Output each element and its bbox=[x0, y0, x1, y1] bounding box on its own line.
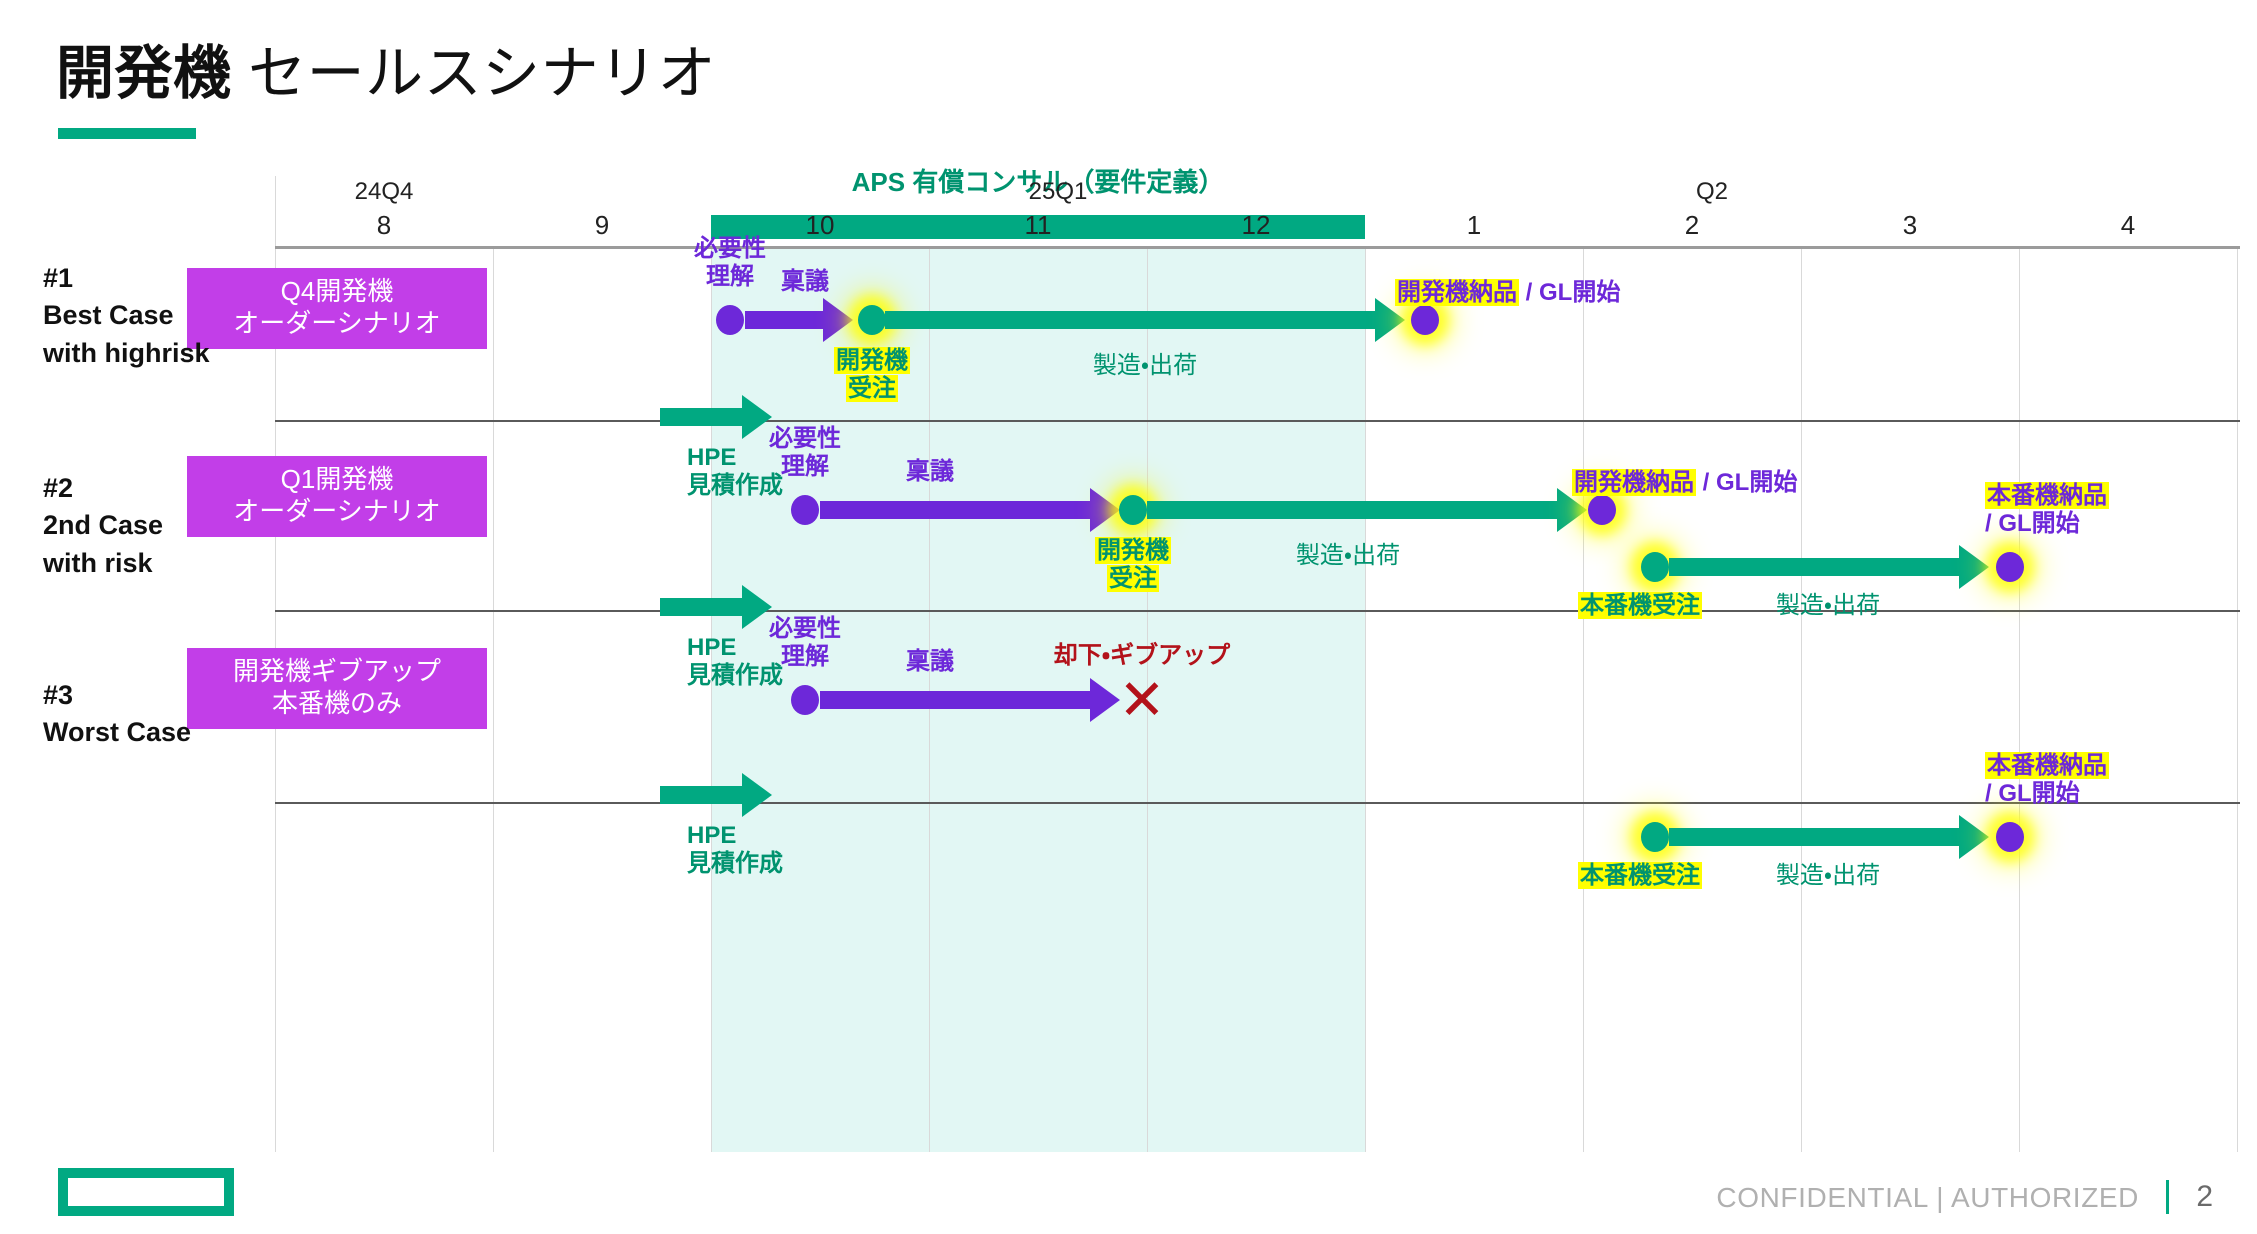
arrow-head bbox=[1959, 815, 1989, 859]
scenario-box-row2: Q1開発機 オーダーシナリオ bbox=[187, 456, 487, 537]
hpe-quote-arrow-row1 bbox=[660, 408, 772, 426]
quarter-label-q2: Q2 bbox=[1632, 178, 1792, 206]
scenario-box-row1: Q4開発機 オーダーシナリオ bbox=[187, 268, 487, 349]
order-label-row2-line1: 開発機 bbox=[1095, 537, 1171, 564]
manufacture-arrow-row1 bbox=[885, 311, 1405, 329]
delivery-label-row2: 開発機納品 / GL開始 bbox=[1572, 469, 1797, 497]
month-label-12: 12 bbox=[1176, 210, 1336, 241]
gridline-2 bbox=[711, 246, 712, 1152]
order-dot-row2 bbox=[1119, 495, 1147, 525]
prod-order-dot-row2 bbox=[1641, 552, 1669, 582]
order-dot-row1 bbox=[858, 305, 886, 335]
start-dot-row2 bbox=[791, 495, 819, 525]
need-label-row2: 必要性 理解 bbox=[769, 425, 841, 482]
reject-x-icon: ✕ bbox=[1119, 672, 1166, 728]
hpe-quote-arrow-row3 bbox=[660, 786, 772, 804]
prod-delivery-row2-hl: 本番機納品 bbox=[1985, 482, 2109, 509]
page-number: 2 bbox=[2196, 1180, 2213, 1214]
order-label-row1: 開発機 受注 bbox=[834, 347, 910, 404]
delivery-label-row2-hl: 開発機納品 bbox=[1572, 469, 1696, 496]
arrow-head bbox=[1959, 545, 1989, 589]
prod-manufacture-label-row3: 製造・出荷 bbox=[1776, 862, 1880, 890]
row-label-2: #2 2nd Case with risk bbox=[43, 470, 163, 582]
hpe-quote-label-row3-line2: 見積作成 bbox=[687, 850, 783, 878]
gridline-5 bbox=[1365, 246, 1366, 1152]
manufacture-label-row1: 製造・出荷 bbox=[1093, 352, 1197, 380]
arrow-head bbox=[742, 773, 772, 817]
month-label-9: 9 bbox=[522, 210, 682, 241]
arrow-head bbox=[1090, 678, 1120, 722]
prod-manufacture-label-row2: 製造・出荷 bbox=[1776, 592, 1880, 620]
arrow-head bbox=[742, 585, 772, 629]
arrow-shaft bbox=[820, 501, 1092, 519]
prod-delivery-label-row2: 本番機納品 / GL開始 bbox=[1985, 482, 2109, 539]
arrow-head bbox=[742, 395, 772, 439]
arrow-shaft bbox=[885, 311, 1377, 329]
row-divider-2 bbox=[275, 610, 2240, 612]
prod-delivery-row2-rest: / GL開始 bbox=[1985, 510, 2109, 538]
title-accent-rule bbox=[58, 128, 196, 139]
quarter-label-25q1: 25Q1 bbox=[978, 178, 1138, 206]
delivery-label-row2-rest: / GL開始 bbox=[1696, 469, 1797, 496]
prod-order-dot-row3 bbox=[1641, 822, 1669, 852]
delivery-label-row1: 開発機納品 / GL開始 bbox=[1395, 279, 1620, 307]
arrow-shaft bbox=[745, 311, 825, 329]
gridline-8 bbox=[2019, 246, 2020, 1152]
prod-delivery-row3-rest: / GL開始 bbox=[1985, 780, 2109, 808]
scenario-box-row3: 開発機ギブアップ 本番機のみ bbox=[187, 648, 487, 729]
timeline-chart: APS 有償コンサル（要件定義） 24Q4 25Q1 Q2 8 9 10 11 … bbox=[275, 172, 2240, 1152]
manufacture-label-row2: 製造・出荷 bbox=[1296, 542, 1400, 570]
gridline-6 bbox=[1583, 246, 1584, 1152]
need-label-row1: 必要性 理解 bbox=[694, 235, 766, 292]
order-label-row1-line1: 開発機 bbox=[834, 347, 910, 374]
scenario-box-row3-line1: 開発機ギブアップ bbox=[201, 656, 473, 688]
scenario-box-row2-line1: Q1開発機 bbox=[201, 464, 473, 496]
order-label-row2-line2: 受注 bbox=[1107, 565, 1159, 592]
delivery-dot-row2 bbox=[1588, 495, 1616, 525]
page-title-rest: セールスシナリオ bbox=[232, 41, 717, 106]
delivery-label-row1-rest: / GL開始 bbox=[1519, 279, 1620, 306]
footer-separator bbox=[2166, 1180, 2169, 1214]
quarter-label-24q4: 24Q4 bbox=[304, 178, 464, 206]
scenario-box-row1-line1: Q4開発機 bbox=[201, 276, 473, 308]
prod-manufacture-arrow-row2 bbox=[1669, 558, 1989, 576]
arrow-shaft bbox=[1669, 828, 1961, 846]
prod-delivery-dot-row2 bbox=[1996, 552, 2024, 582]
order-label-row1-line2: 受注 bbox=[846, 375, 898, 402]
prod-delivery-row3-hl: 本番機納品 bbox=[1985, 752, 2109, 779]
row-label-3-line2: Worst Case bbox=[43, 714, 191, 751]
arrow-shaft bbox=[1669, 558, 1961, 576]
row-label-2-line3: with risk bbox=[43, 545, 163, 582]
row-label-1: #1 Best Case with highrisk bbox=[43, 260, 210, 372]
prod-order-label-row2: 本番機受注 bbox=[1578, 592, 1702, 620]
prod-manufacture-arrow-row3 bbox=[1669, 828, 1989, 846]
gridline-9 bbox=[2237, 246, 2238, 1152]
prod-delivery-dot-row3 bbox=[1996, 822, 2024, 852]
arrow-head bbox=[823, 298, 853, 342]
approval-arrow-row3 bbox=[820, 691, 1120, 709]
page-title-bold: 開発機 bbox=[56, 41, 232, 106]
approval-arrow-row2 bbox=[820, 501, 1120, 519]
month-label-11: 11 bbox=[958, 210, 1118, 241]
scenario-box-row3-line2: 本番機のみ bbox=[201, 688, 473, 720]
row-divider-1 bbox=[275, 420, 2240, 422]
row-label-1-id: #1 bbox=[43, 260, 210, 297]
axis-rule bbox=[275, 246, 2240, 249]
hpe-logo bbox=[58, 1168, 234, 1216]
month-label-1: 1 bbox=[1394, 210, 1554, 241]
gridline-1 bbox=[493, 246, 494, 1152]
slide: 開発機 セールスシナリオ APS 有償コンサル（要件定義） 24Q4 25Q1 … bbox=[0, 0, 2257, 1234]
approval-arrow-row1 bbox=[745, 311, 853, 329]
approval-label-row1: 稟議 bbox=[781, 268, 829, 296]
arrow-shaft bbox=[660, 408, 744, 426]
reject-label-row3: 却下・ギブアップ bbox=[1054, 642, 1230, 670]
scenario-box-row2-line2: オーダーシナリオ bbox=[201, 496, 473, 528]
row-divider-3 bbox=[275, 802, 2240, 804]
delivery-dot-row1 bbox=[1411, 305, 1439, 335]
arrow-head bbox=[1090, 488, 1120, 532]
need-label-row3: 必要性 理解 bbox=[769, 615, 841, 672]
arrow-shaft bbox=[1147, 501, 1559, 519]
row-label-3: #3 Worst Case bbox=[43, 677, 191, 752]
approval-label-row2: 稟議 bbox=[906, 458, 954, 486]
order-label-row2: 開発機 受注 bbox=[1095, 537, 1171, 594]
hpe-quote-label-row3-line1: HPE bbox=[687, 822, 783, 850]
month-label-8: 8 bbox=[304, 210, 464, 241]
hpe-quote-arrow-row2 bbox=[660, 598, 772, 616]
row-label-1-line3: with highrisk bbox=[43, 335, 210, 372]
month-label-2: 2 bbox=[1612, 210, 1772, 241]
arrow-shaft bbox=[820, 691, 1092, 709]
prod-order-label-row3: 本番機受注 bbox=[1578, 862, 1702, 890]
row-label-1-line2: Best Case bbox=[43, 297, 210, 334]
arrow-shaft bbox=[660, 598, 744, 616]
timeline-header: 24Q4 25Q1 Q2 8 9 10 11 12 1 2 3 4 bbox=[275, 176, 2240, 246]
approval-label-row3: 稟議 bbox=[906, 648, 954, 676]
page-title: 開発機 セールスシナリオ bbox=[56, 26, 716, 110]
row-label-2-line2: 2nd Case bbox=[43, 507, 163, 544]
arrow-shaft bbox=[660, 786, 744, 804]
row-label-3-id: #3 bbox=[43, 677, 191, 714]
prod-delivery-label-row3: 本番機納品 / GL開始 bbox=[1985, 752, 2109, 809]
delivery-label-row1-hl: 開発機納品 bbox=[1395, 279, 1519, 306]
month-label-3: 3 bbox=[1830, 210, 1990, 241]
gridline-7 bbox=[1801, 246, 1802, 1152]
confidentiality-notice: CONFIDENTIAL | AUTHORIZED bbox=[1716, 1182, 2139, 1214]
start-dot-row3 bbox=[791, 685, 819, 715]
month-label-4: 4 bbox=[2048, 210, 2208, 241]
start-dot-row1 bbox=[716, 305, 744, 335]
hpe-quote-label-row3: HPE 見積作成 bbox=[687, 822, 783, 879]
manufacture-arrow-row2 bbox=[1147, 501, 1587, 519]
row-label-2-id: #2 bbox=[43, 470, 163, 507]
scenario-box-row1-line2: オーダーシナリオ bbox=[201, 308, 473, 340]
